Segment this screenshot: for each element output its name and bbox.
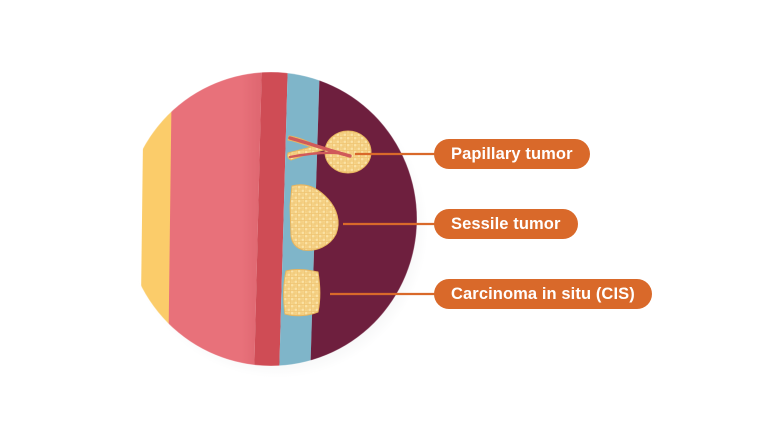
label-sessile-tumor-text: Sessile tumor xyxy=(451,215,561,234)
bladder-wall-diagram xyxy=(0,0,768,432)
label-papillary-tumor[interactable]: Papillary tumor xyxy=(434,139,590,169)
label-sessile-tumor[interactable]: Sessile tumor xyxy=(434,209,578,239)
label-carcinoma-in-situ[interactable]: Carcinoma in situ (CIS) xyxy=(434,279,652,309)
layer-muscularis-salmon xyxy=(168,60,262,380)
label-carcinoma-in-situ-text: Carcinoma in situ (CIS) xyxy=(451,285,635,304)
lesion-carcinoma-in-situ xyxy=(284,269,320,315)
label-papillary-tumor-text: Papillary tumor xyxy=(451,145,573,164)
